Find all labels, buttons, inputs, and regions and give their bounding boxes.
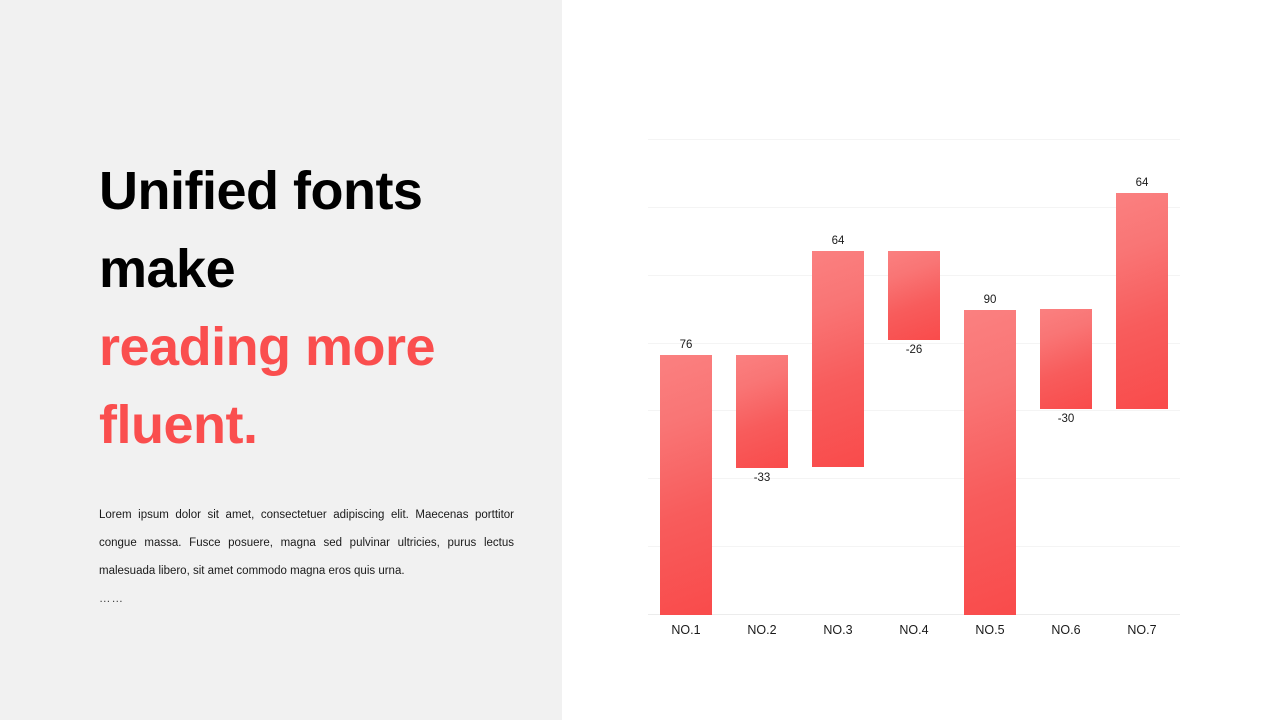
headline-line-4: fluent.: [99, 386, 519, 464]
slide-root: Unified fonts make reading more fluent. …: [0, 0, 1280, 720]
waterfall-chart: 76-3364-2690-3064: [648, 139, 1180, 615]
bar-value-label: 64: [800, 234, 876, 248]
bar-value-label: 76: [648, 338, 724, 352]
bar-value-label: 90: [952, 293, 1028, 307]
x-axis-tick-label: NO.1: [648, 619, 724, 641]
headline-line-2: make: [99, 230, 519, 308]
bar-slot[interactable]: 90: [952, 139, 1028, 615]
right-chart-panel: 76-3364-2690-3064 NO.1NO.2NO.3NO.4NO.5NO…: [562, 0, 1280, 720]
bar-slot[interactable]: 64: [800, 139, 876, 615]
bar-slot[interactable]: 64: [1104, 139, 1180, 615]
x-axis-tick-label: NO.3: [800, 619, 876, 641]
bar-value-label: -30: [1028, 412, 1104, 426]
bar[interactable]: [736, 355, 788, 468]
bar-slot[interactable]: -33: [724, 139, 800, 615]
body-continuation-ellipsis: ……: [99, 585, 514, 613]
bar-value-label: -26: [876, 343, 952, 357]
left-text-panel: Unified fonts make reading more fluent. …: [0, 0, 562, 720]
bar-value-label: 64: [1104, 176, 1180, 190]
bar[interactable]: [888, 251, 940, 340]
bar[interactable]: [964, 310, 1016, 615]
bar[interactable]: [1040, 309, 1092, 409]
bar-slot[interactable]: -26: [876, 139, 952, 615]
chart-x-axis: NO.1NO.2NO.3NO.4NO.5NO.6NO.7: [648, 619, 1180, 643]
body-paragraph: Lorem ipsum dolor sit amet, consectetuer…: [99, 501, 514, 585]
bar[interactable]: [660, 355, 712, 615]
chart-plot-area: 76-3364-2690-3064: [648, 139, 1180, 615]
bar[interactable]: [1116, 193, 1168, 409]
headline-block: Unified fonts make reading more fluent.: [99, 152, 519, 464]
headline-line-3: reading more: [99, 308, 519, 386]
x-axis-tick-label: NO.2: [724, 619, 800, 641]
x-axis-tick-label: NO.5: [952, 619, 1028, 641]
x-axis-tick-label: NO.7: [1104, 619, 1180, 641]
bar-value-label: -33: [724, 471, 800, 485]
body-copy-block: Lorem ipsum dolor sit amet, consectetuer…: [99, 501, 514, 613]
bar[interactable]: [812, 251, 864, 467]
page-title: Unified fonts make reading more fluent.: [99, 152, 519, 464]
bar-slot[interactable]: -30: [1028, 139, 1104, 615]
bar-slot[interactable]: 76: [648, 139, 724, 615]
headline-line-1: Unified fonts: [99, 152, 519, 230]
x-axis-tick-label: NO.4: [876, 619, 952, 641]
x-axis-tick-label: NO.6: [1028, 619, 1104, 641]
